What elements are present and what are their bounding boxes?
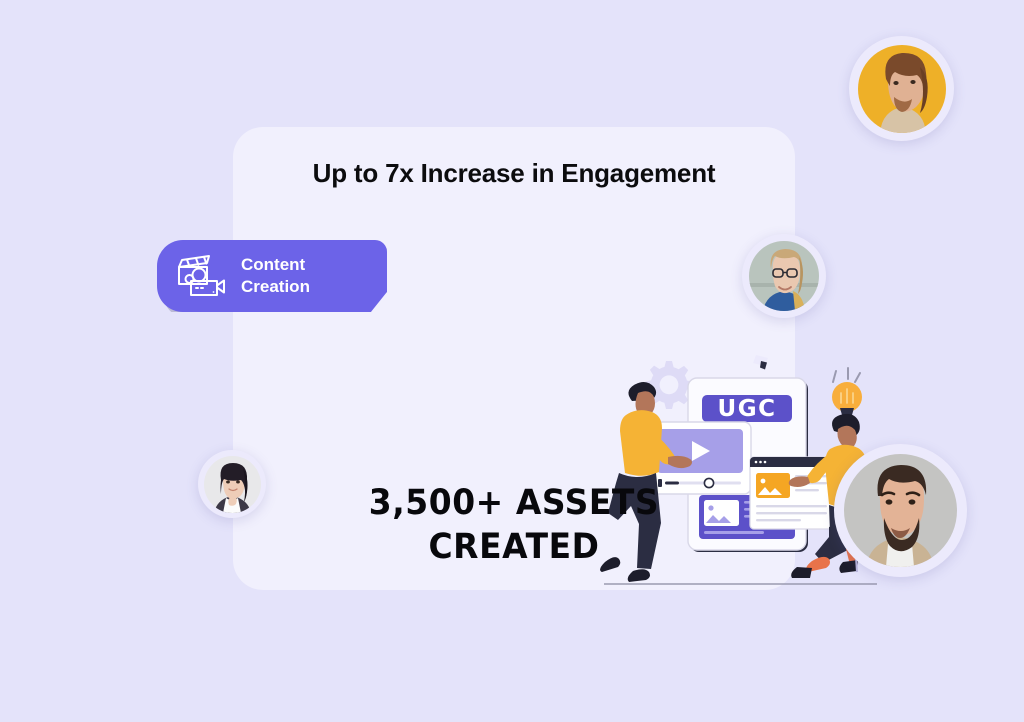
content-card: Up to 7x Increase in Engagement UGC xyxy=(233,127,795,590)
paper-chip-icon xyxy=(753,355,768,370)
video-camera-clapperboard-icon xyxy=(175,254,227,298)
avatar-top-right[interactable] xyxy=(849,36,954,141)
promo-graphic: Up to 7x Increase in Engagement UGC xyxy=(0,0,1024,722)
badge-label: Content Creation xyxy=(241,254,310,299)
avatar-middle-right[interactable] xyxy=(742,234,826,318)
page-title: Up to 7x Increase in Engagement xyxy=(233,158,795,189)
avatar-bottom-right[interactable] xyxy=(834,444,967,577)
avatar-photo xyxy=(749,241,819,311)
avatar-photo xyxy=(204,456,261,513)
stat-assets-count: 3,500+ ASSETS xyxy=(250,483,778,523)
avatar-photo xyxy=(844,454,957,567)
ugc-banner: UGC xyxy=(702,395,792,422)
ugc-label: UGC xyxy=(718,396,777,422)
lightbulb-icon xyxy=(832,368,862,415)
avatar-left-bottom[interactable] xyxy=(198,450,266,518)
content-creation-badge[interactable]: Content Creation xyxy=(157,240,387,312)
avatar-photo xyxy=(858,45,946,133)
stat-assets-label: CREATED xyxy=(250,527,778,567)
